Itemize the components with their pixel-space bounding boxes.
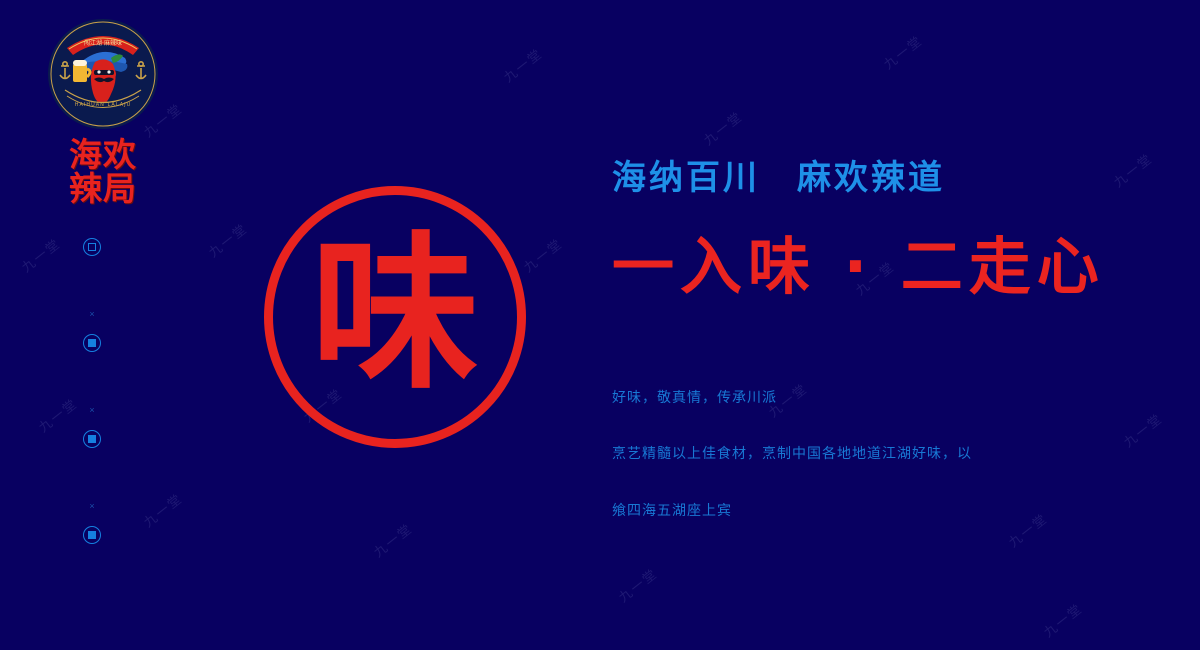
watermark-text: 九一堂 (499, 43, 546, 86)
rail-icon-glyph (88, 243, 96, 251)
watermark-text: 九一堂 (519, 233, 566, 276)
rail-gap (75, 256, 109, 294)
body-paragraph-1: 好味，敬真情，传承川派 (612, 387, 1172, 409)
circle-square-icon[interactable] (83, 430, 101, 448)
headline: 一入味 · 二走心 (612, 233, 1172, 301)
watermark-text: 九一堂 (879, 30, 926, 73)
center-seal-circle: 味 (264, 186, 526, 448)
body-paragraph-3: 飨四海五湖座上宾 (612, 500, 1172, 522)
brand-name: 海欢 辣局 (38, 138, 168, 205)
watermark-text: 九一堂 (614, 563, 661, 606)
rail-icon-glyph (88, 531, 96, 539)
rail-item-0[interactable] (75, 238, 109, 256)
circle-square-icon[interactable] (83, 238, 101, 256)
rail-icon-glyph (88, 339, 96, 347)
watermark-text: 九一堂 (139, 488, 186, 531)
copy-column: 海纳百川 麻欢辣道 一入味 · 二走心 好味，敬真情，传承川派烹艺精髓以上佳食材… (612, 158, 1172, 522)
rail-gap (75, 544, 109, 582)
svg-text:闯江湖·麻辣味: 闯江湖·麻辣味 (84, 39, 122, 47)
circle-square-icon[interactable] (83, 526, 101, 544)
watermark-text: 九一堂 (369, 518, 416, 561)
watermark-text: 九一堂 (17, 233, 64, 276)
tagline: 海纳百川 麻欢辣道 (612, 158, 1172, 199)
rail-separator-icon: × (75, 390, 109, 430)
watermark-text: 九一堂 (1039, 598, 1086, 641)
svg-text:HAIHUAN LALAJU: HAIHUAN LALAJU (75, 102, 132, 108)
seal-character: 味 (311, 230, 479, 398)
brand-name-line-1: 海欢 (38, 138, 168, 172)
rail-separator-icon: × (75, 486, 109, 526)
circle-square-icon[interactable] (83, 334, 101, 352)
watermark-text: 九一堂 (204, 218, 251, 261)
rail-gap (75, 448, 109, 486)
left-rail-nav[interactable]: ××× (75, 238, 109, 582)
watermark-text: 九一堂 (699, 106, 746, 149)
brand-block: 闯江湖·麻辣味 (38, 18, 168, 205)
rail-item-4[interactable] (75, 430, 109, 448)
brand-name-line-2: 辣局 (38, 172, 168, 206)
rail-item-2[interactable] (75, 334, 109, 352)
rail-gap (75, 352, 109, 390)
brand-logo-emblem: 闯江湖·麻辣味 (47, 18, 159, 130)
rail-separator-icon: × (75, 294, 109, 334)
body-copy: 好味，敬真情，传承川派烹艺精髓以上佳食材，烹制中国各地地道江湖好味，以飨四海五湖… (612, 387, 1172, 522)
rail-item-6[interactable] (75, 526, 109, 544)
pirate-chili-mascot-icon: 闯江湖·麻辣味 (47, 18, 159, 130)
rail-icon-glyph (88, 435, 96, 443)
body-paragraph-2: 烹艺精髓以上佳食材，烹制中国各地地道江湖好味，以 (612, 443, 1172, 465)
